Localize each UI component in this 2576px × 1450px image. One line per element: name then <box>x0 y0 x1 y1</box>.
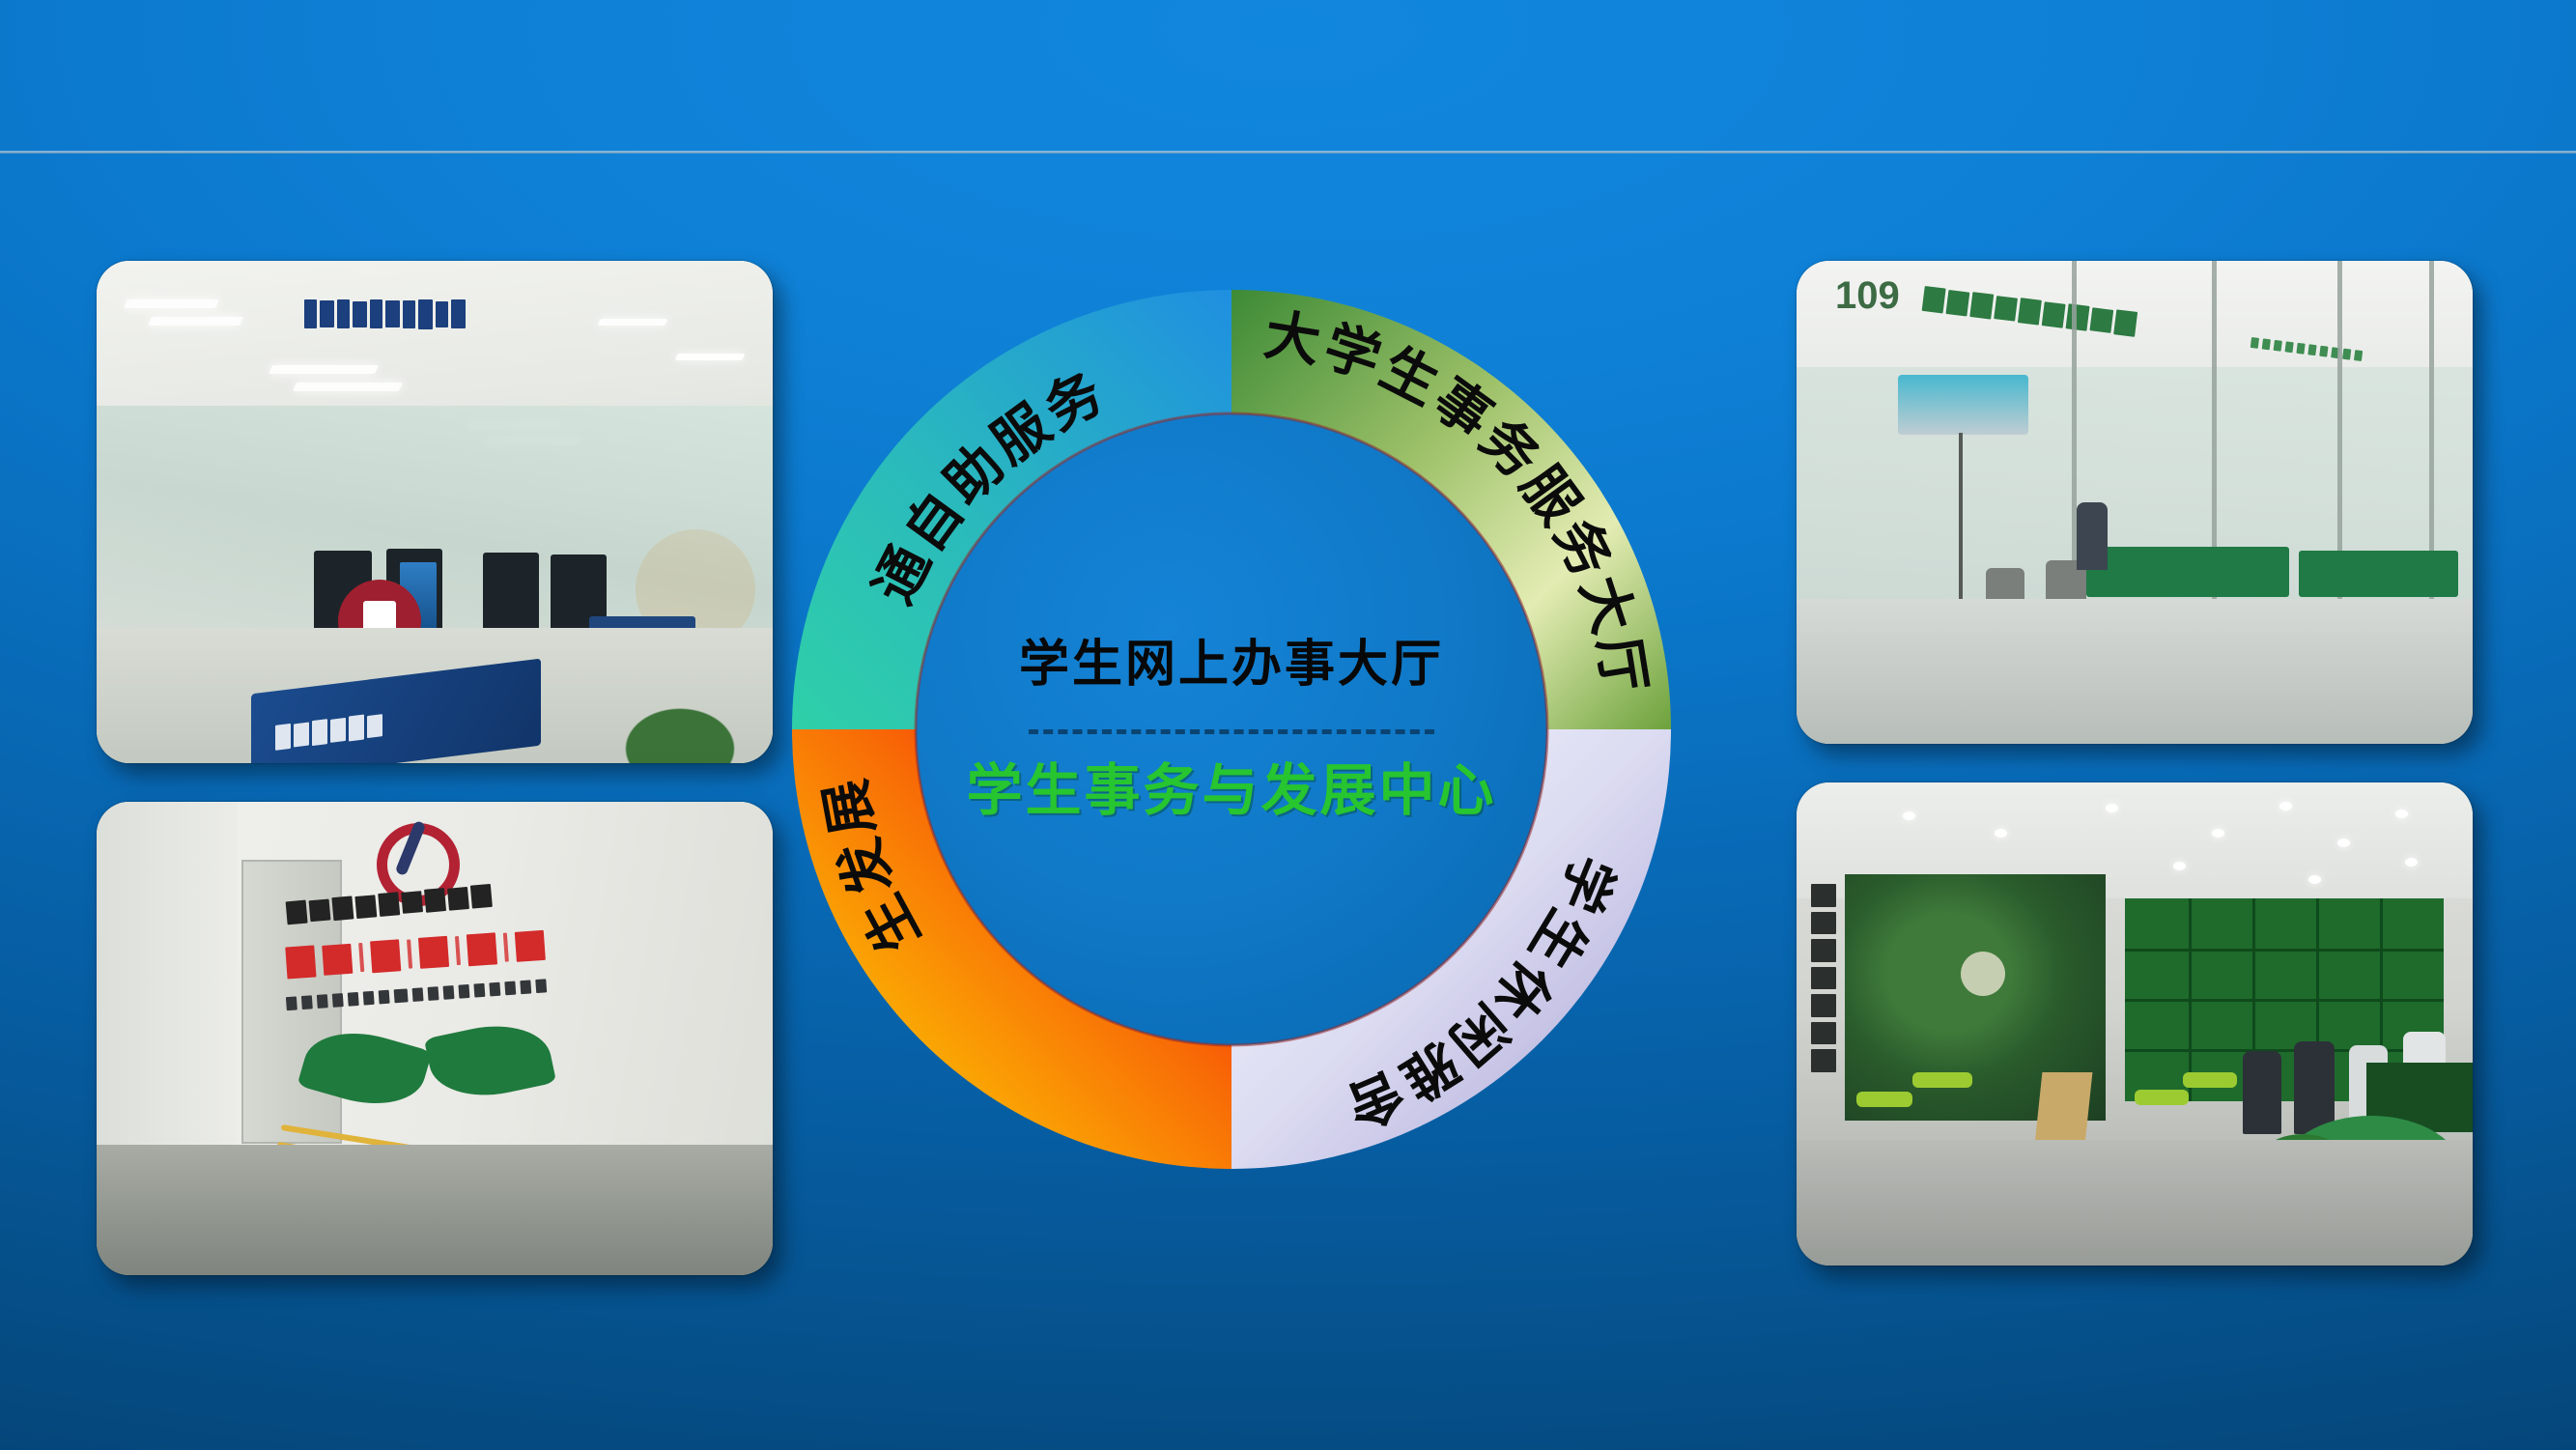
top-divider-rule <box>0 151 2576 154</box>
photo-affairs-service-hall-entrance: 109 <box>1797 261 2473 744</box>
mural-detail <box>1961 952 2005 996</box>
corridor-wall <box>97 802 237 1150</box>
ceiling-light <box>124 299 219 308</box>
service-ring-diagram: 一卡通自助服务中心 大学生事务服务大厅 学生休闲雅舍 大学生发展中心 <box>792 290 1671 1169</box>
person <box>2077 502 2108 570</box>
stool <box>1856 1092 1912 1107</box>
service-counter <box>2299 551 2458 597</box>
photo-student-lounge <box>1797 782 2473 1265</box>
photo-tl-content <box>97 261 773 763</box>
photo-card-service-hall <box>97 261 773 763</box>
ceiling-light <box>148 317 243 326</box>
display-panel <box>483 553 539 634</box>
slide-canvas: 109 <box>0 0 2576 1450</box>
photo-br-content <box>1797 782 2473 1265</box>
photo-student-development-center <box>97 802 773 1275</box>
stool <box>1912 1072 1972 1088</box>
ring-hub-disc <box>916 413 1547 1045</box>
ceiling-light <box>293 383 403 391</box>
wayfinding-plate <box>1898 375 2028 435</box>
stool <box>2135 1090 2189 1105</box>
person <box>2294 1041 2335 1134</box>
floor <box>1797 1140 2473 1265</box>
ceiling-light <box>597 319 667 326</box>
floor <box>1797 599 2473 744</box>
ceiling-light <box>674 354 745 360</box>
room-number: 109 <box>1835 274 1900 318</box>
floor <box>97 1145 773 1275</box>
photo-bl-content <box>97 802 773 1275</box>
plant <box>570 618 753 763</box>
ceiling-light <box>269 365 379 374</box>
person <box>2243 1051 2281 1134</box>
stool <box>2183 1072 2237 1088</box>
service-counter <box>2086 547 2289 597</box>
hall-sign-text <box>304 280 526 348</box>
wall-text <box>1804 884 1843 1106</box>
photo-tr-content: 109 <box>1797 261 2473 744</box>
